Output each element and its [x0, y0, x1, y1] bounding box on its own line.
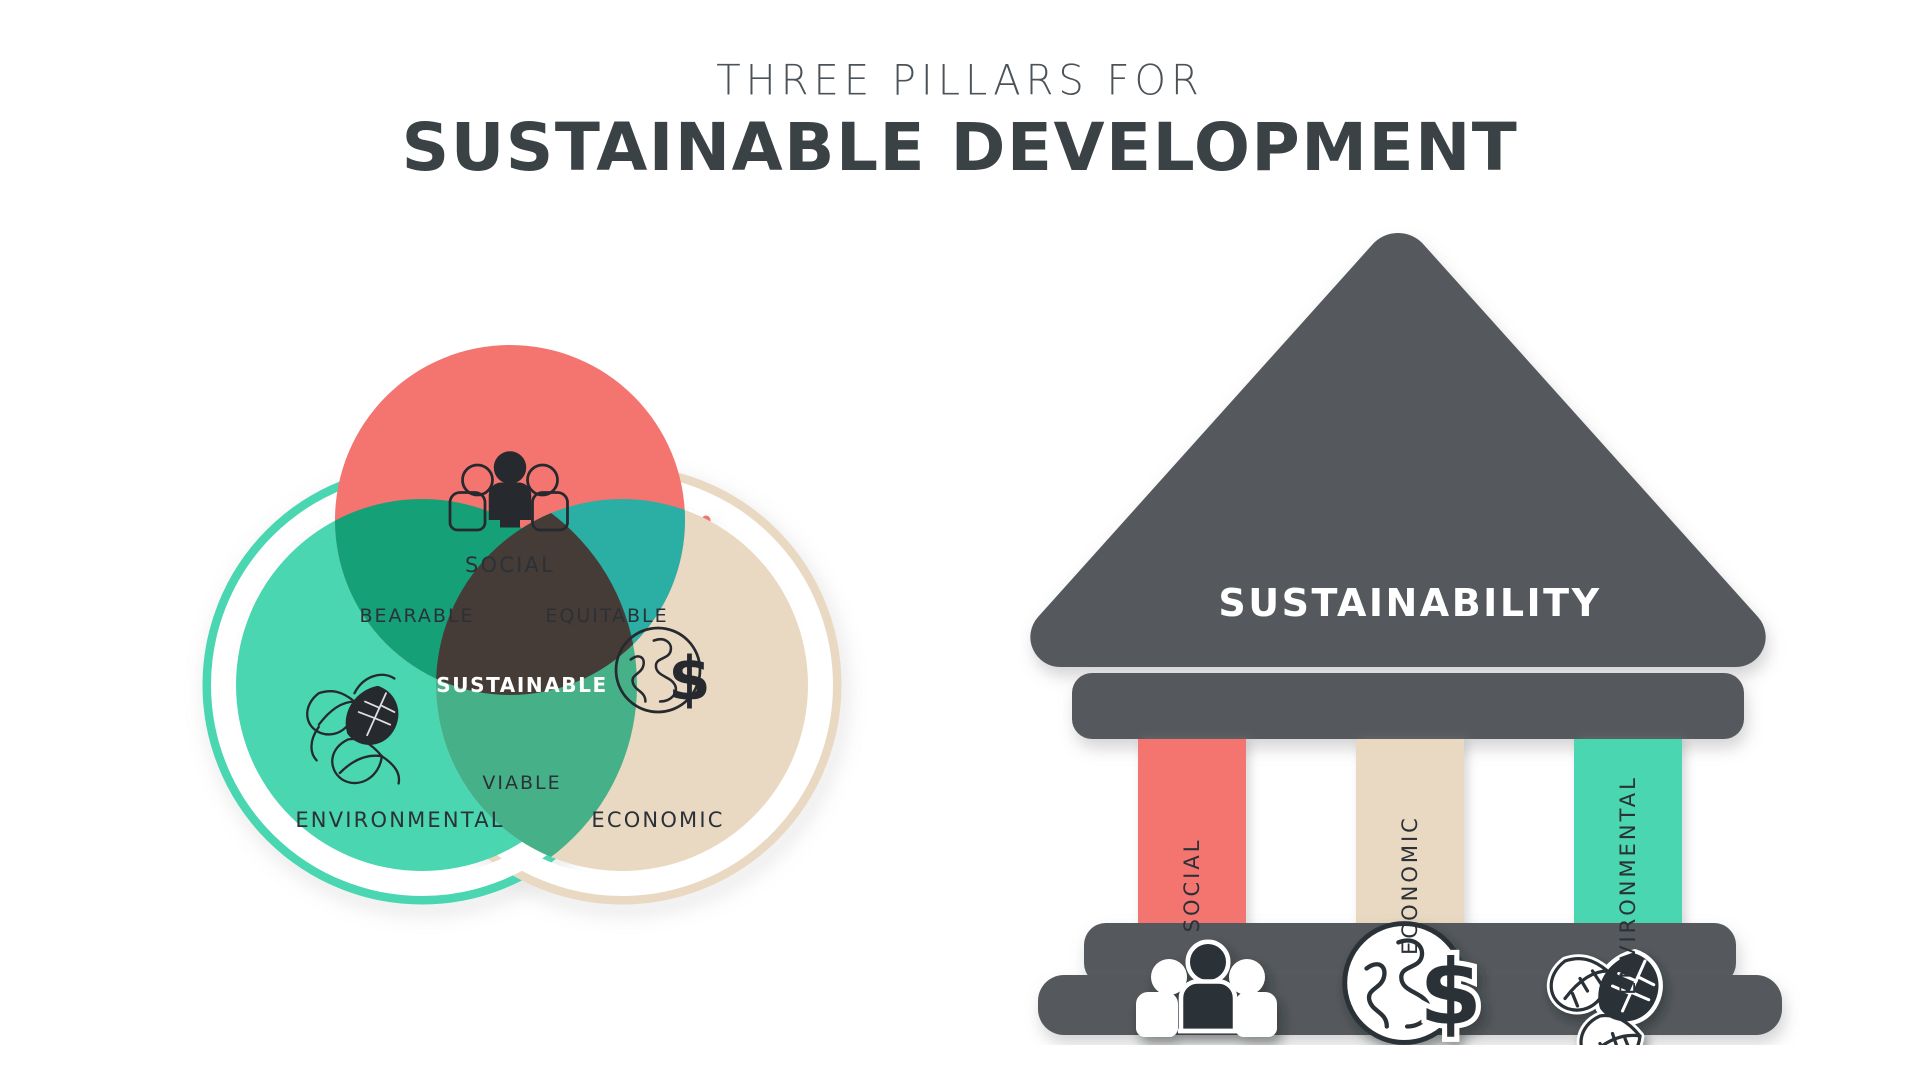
- architrave[interactable]: [1072, 673, 1744, 739]
- title-kicker: THREE PILLARS FOR: [0, 57, 1920, 105]
- dollar-glyph: $: [668, 643, 710, 714]
- venn-label-viable: VIABLE: [482, 772, 561, 794]
- pediment-label: SUSTAINABILITY: [1218, 581, 1601, 625]
- title-block: THREE PILLARS FOR SUSTAINABLE DEVELOPMEN…: [0, 58, 1920, 186]
- pillar-label-social: SOCIAL: [1180, 838, 1204, 933]
- venn-label-bearable: BEARABLE: [359, 605, 474, 627]
- pillars-diagram: $: [1020, 215, 1800, 1045]
- venn-svg: $: [150, 230, 870, 1030]
- venn-label-equitable: EQUITABLE: [545, 605, 668, 627]
- venn-label-environmental: ENVIRONMENTAL: [295, 808, 504, 832]
- pillar-label-economic: ECONOMIC: [1398, 815, 1422, 955]
- dollar-glyph: $: [1419, 942, 1482, 1045]
- venn-label-sustainable: SUSTAINABLE: [436, 673, 608, 697]
- pillar-label-environmental: ENVIRONMENTAL: [1616, 775, 1640, 995]
- venn-label-social: SOCIAL: [465, 553, 555, 577]
- venn-label-economic: ECONOMIC: [591, 808, 724, 832]
- infographic-canvas: THREE PILLARS FOR SUSTAINABLE DEVELOPMEN…: [0, 0, 1920, 1080]
- venn-diagram: $ SOCIAL ENVIRONMENTAL ECONOMIC BEARABLE…: [150, 230, 870, 1030]
- page-title: SUSTAINABLE DEVELOPMENT: [0, 110, 1920, 186]
